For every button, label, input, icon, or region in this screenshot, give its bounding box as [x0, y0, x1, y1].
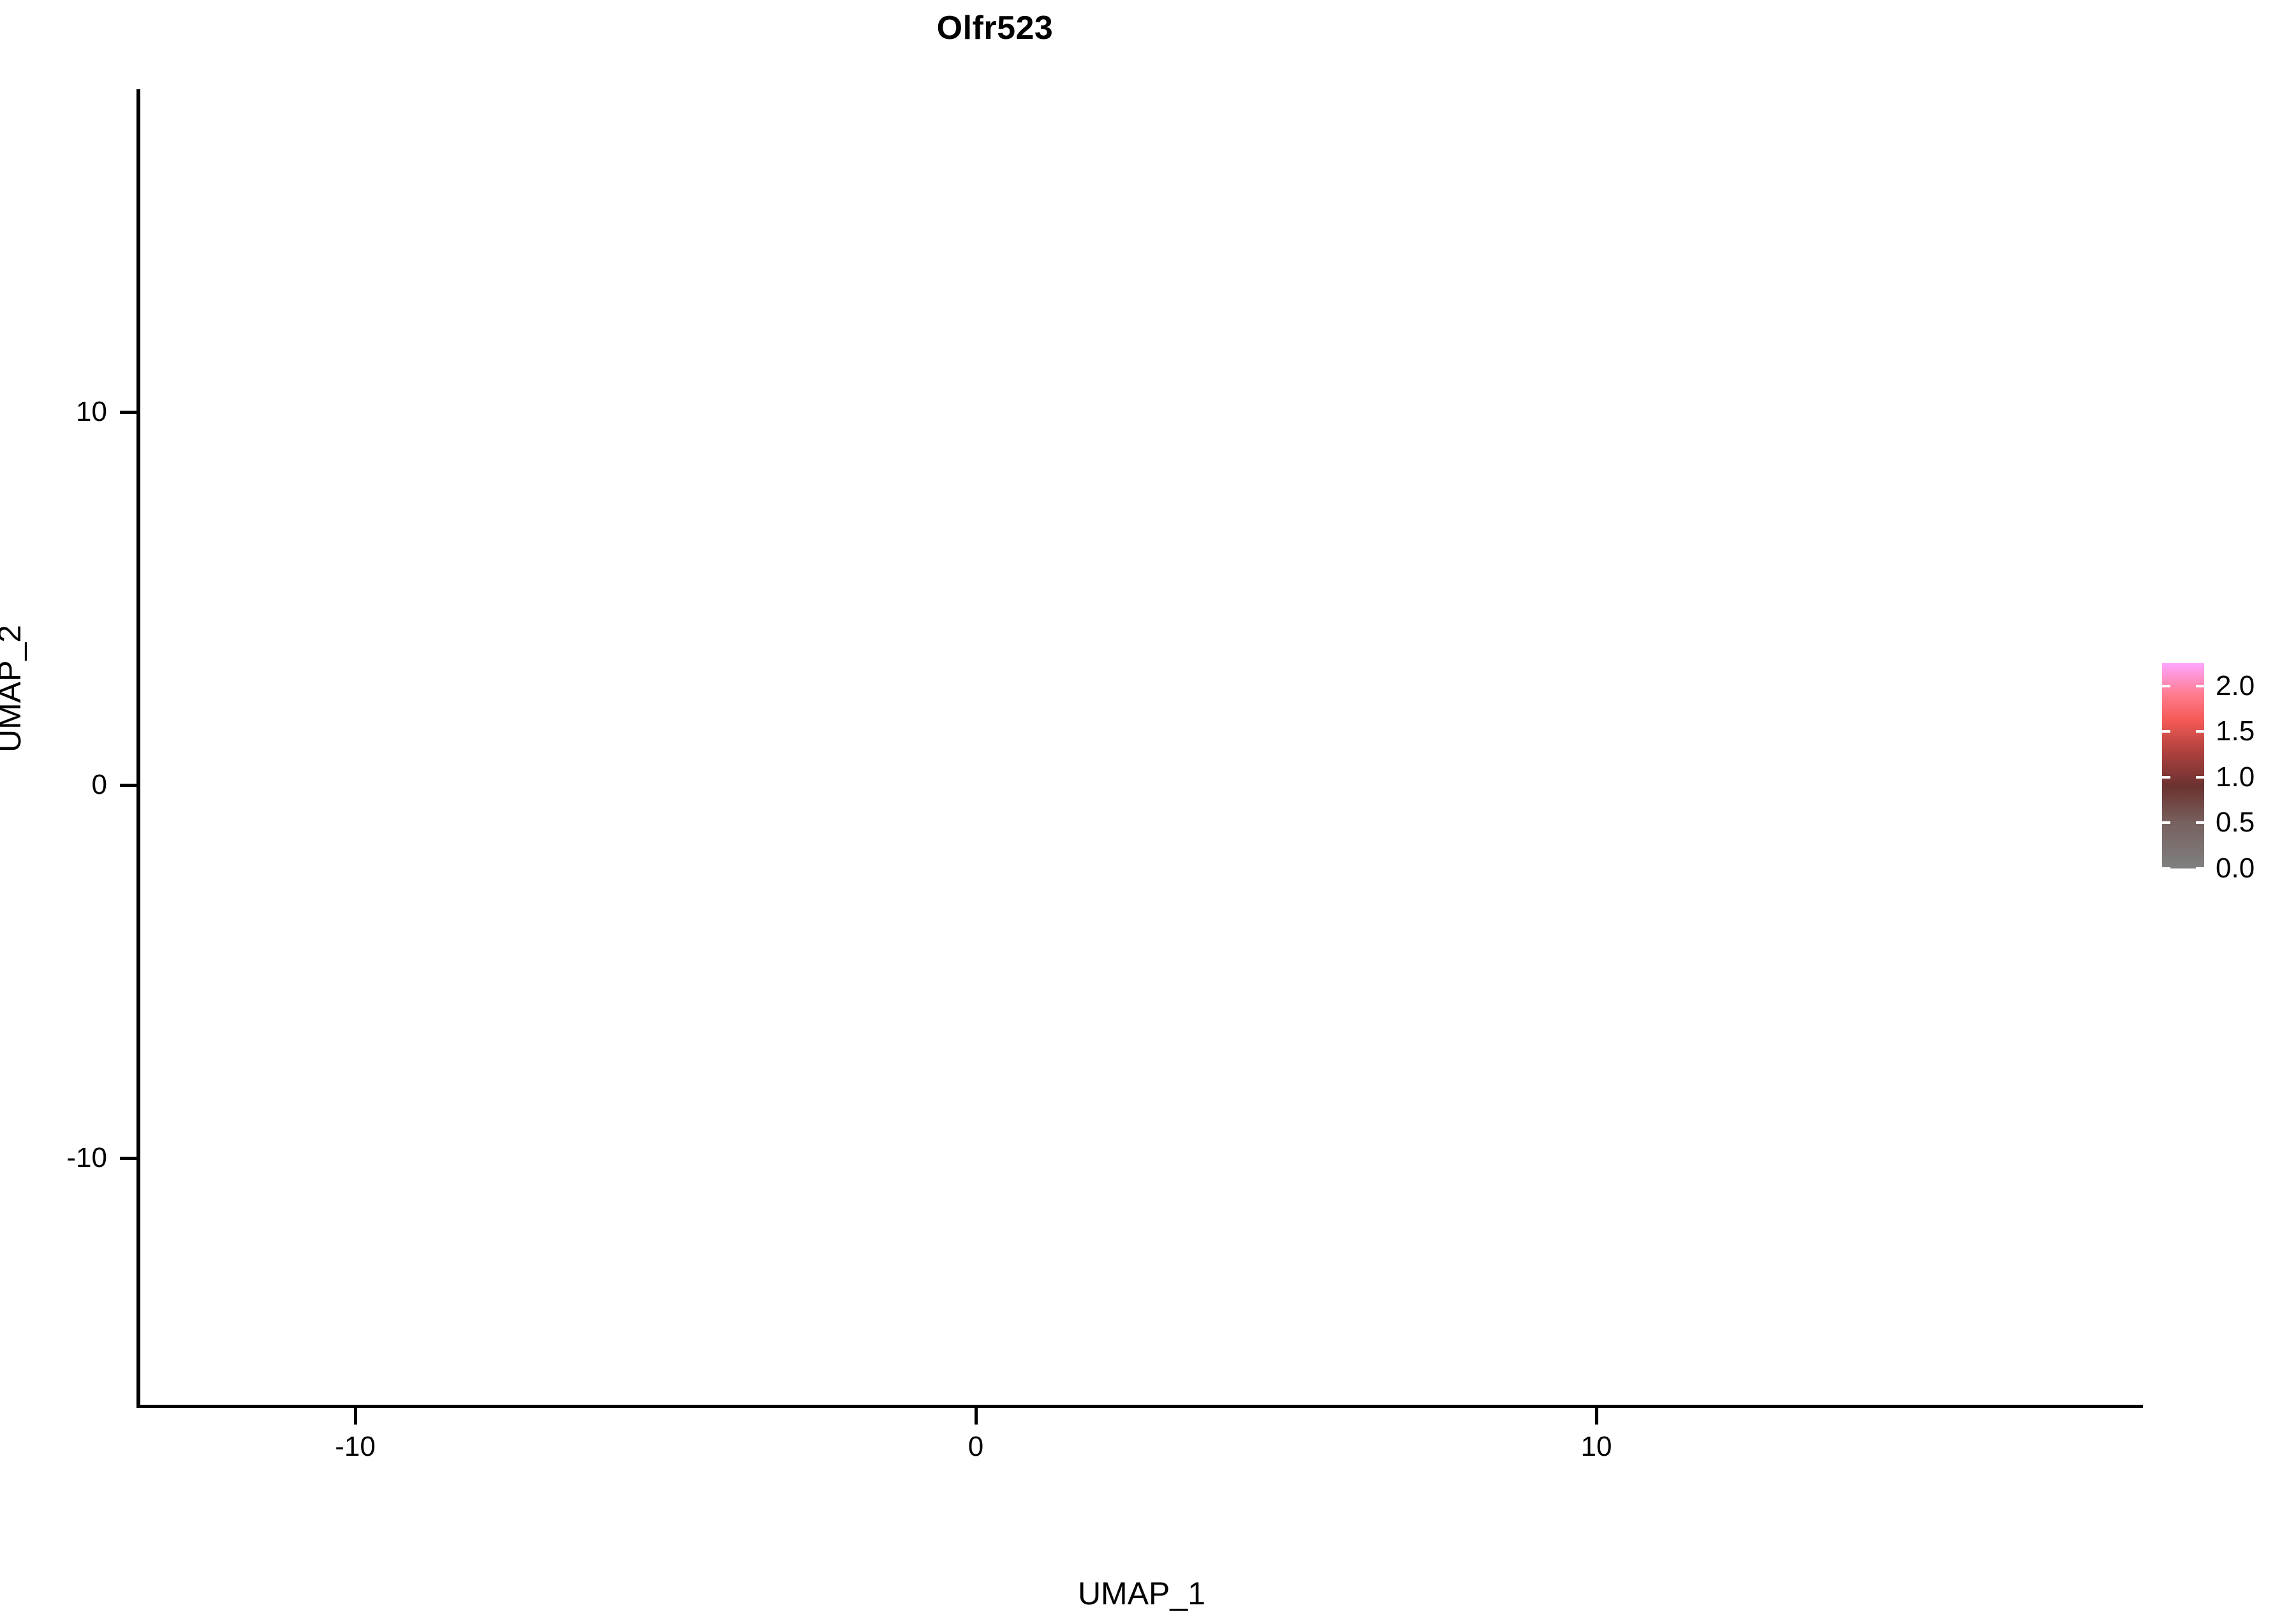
x-axis-label: UMAP_1: [140, 1575, 2143, 1612]
colorbar-tick: [2196, 867, 2204, 870]
colorbar-label: 0.0: [2216, 853, 2255, 884]
x-tick: [354, 1408, 357, 1425]
colorbar-label: 2.0: [2216, 670, 2255, 702]
umap-feature-plot: Olfr523 -10010 -10010 UMAP_1 UMAP_2 0.00…: [0, 0, 2296, 1530]
colorbar-label: 1.5: [2216, 715, 2255, 747]
y-tick-label: 0: [92, 769, 107, 801]
colorbar-tick: [2196, 821, 2204, 824]
colorbar-tick: [2162, 685, 2170, 687]
colorbar-tick: [2162, 730, 2170, 733]
x-tick: [975, 1408, 978, 1425]
y-tick: [120, 1157, 136, 1160]
colorbar-label: 1.0: [2216, 761, 2255, 793]
x-tick-label: 0: [968, 1431, 983, 1463]
colorbar-tick: [2196, 730, 2204, 733]
colorbar-tick: [2162, 867, 2170, 870]
colorbar-tick: [2162, 776, 2170, 779]
x-tick: [1595, 1408, 1598, 1425]
y-tick-label: 10: [76, 396, 107, 428]
y-tick-label: -10: [66, 1142, 107, 1174]
colorbar-gradient: [2162, 663, 2204, 868]
x-tick-label: 10: [1581, 1431, 1612, 1463]
plot-panel: UMAP_1: [140, 89, 2143, 1405]
colorbar-tick: [2196, 685, 2204, 687]
colorbar-legend: 0.00.51.01.52.0: [2162, 663, 2277, 874]
y-tick: [120, 411, 136, 414]
colorbar-label: 0.5: [2216, 807, 2255, 839]
colorbar-tick: [2162, 821, 2170, 824]
x-tick-label: -10: [335, 1431, 376, 1463]
y-tick: [120, 784, 136, 787]
colorbar-tick: [2196, 776, 2204, 779]
y-axis-label: UMAP_2: [0, 625, 28, 752]
